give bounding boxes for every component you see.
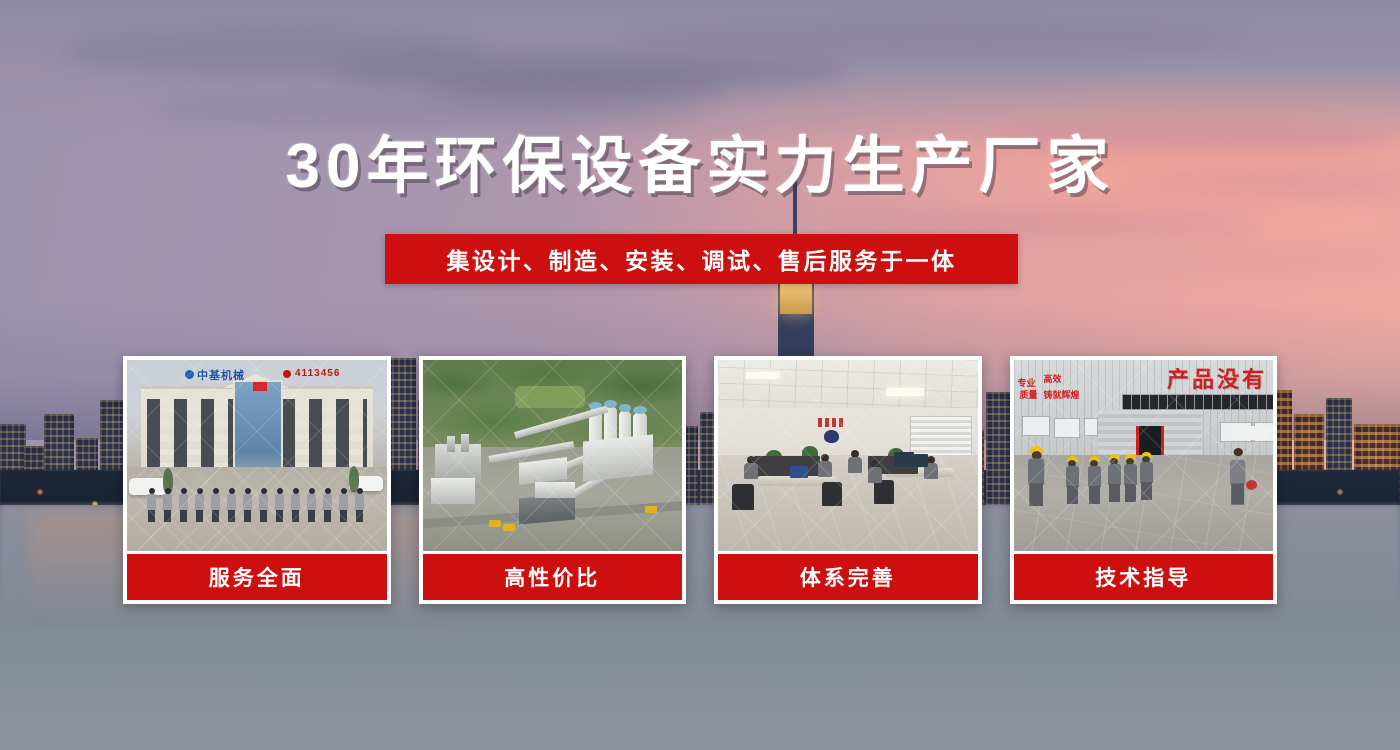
card-caption-text: 技术指导: [1095, 562, 1191, 592]
card-caption-text: 服务全面: [209, 562, 305, 592]
factory-side-slogan: 专业: [1018, 378, 1036, 389]
feature-card-guidance[interactable]: 产品没有 专业 高效 质量 铸就辉煌: [1010, 356, 1278, 604]
factory-side-slogan: 高效: [1044, 374, 1062, 385]
promo-banner: 30年环保设备实力生产厂家 集设计、制造、安装、调试、售后服务于一体 中基机械 …: [0, 0, 1400, 750]
feature-card-row: 中基机械 4113456: [123, 356, 1277, 604]
card-caption-bar: 技术指导: [1014, 554, 1274, 600]
red-helmet-icon: [1246, 480, 1257, 490]
photo-production-plant-aerial: [423, 360, 683, 551]
subtitle-banner: 集设计、制造、安装、调试、售后服务于一体: [385, 234, 1018, 284]
photo-office-interior: [718, 360, 978, 551]
subtitle-text: 集设计、制造、安装、调试、售后服务于一体: [447, 242, 957, 276]
phone-icon: [283, 370, 291, 378]
wall-decal-icon: [814, 418, 850, 448]
card-caption-text: 体系完善: [800, 562, 896, 592]
feature-card-service[interactable]: 中基机械 4113456: [123, 356, 391, 604]
photo-factory-workers: 产品没有 专业 高效 质量 铸就辉煌: [1014, 360, 1274, 551]
cloud: [620, 18, 1260, 62]
card-caption-text: 高性价比: [504, 562, 600, 592]
factory-side-slogan: 铸就辉煌: [1044, 390, 1080, 401]
company-logo-icon: [185, 370, 194, 379]
feature-card-system[interactable]: 体系完善: [714, 356, 982, 604]
card-caption-bar: 体系完善: [718, 554, 978, 600]
feature-card-value[interactable]: 高性价比: [419, 356, 687, 604]
tower-crown-lights: [780, 284, 812, 314]
building-phone-text: 4113456: [295, 368, 340, 379]
building-brand-text: 中基机械: [197, 367, 245, 383]
headline-text: 30年环保设备实力生产厂家: [0, 136, 1400, 198]
factory-side-slogan: 质量: [1020, 390, 1038, 401]
card-caption-bar: 高性价比: [423, 554, 683, 600]
card-caption-bar: 服务全面: [127, 554, 387, 600]
photo-headquarters-building: 中基机械 4113456: [127, 360, 387, 551]
factory-wall-slogan: 产品没有: [1167, 362, 1267, 394]
staff-lineup: [147, 476, 377, 522]
cloud: [430, 70, 730, 104]
